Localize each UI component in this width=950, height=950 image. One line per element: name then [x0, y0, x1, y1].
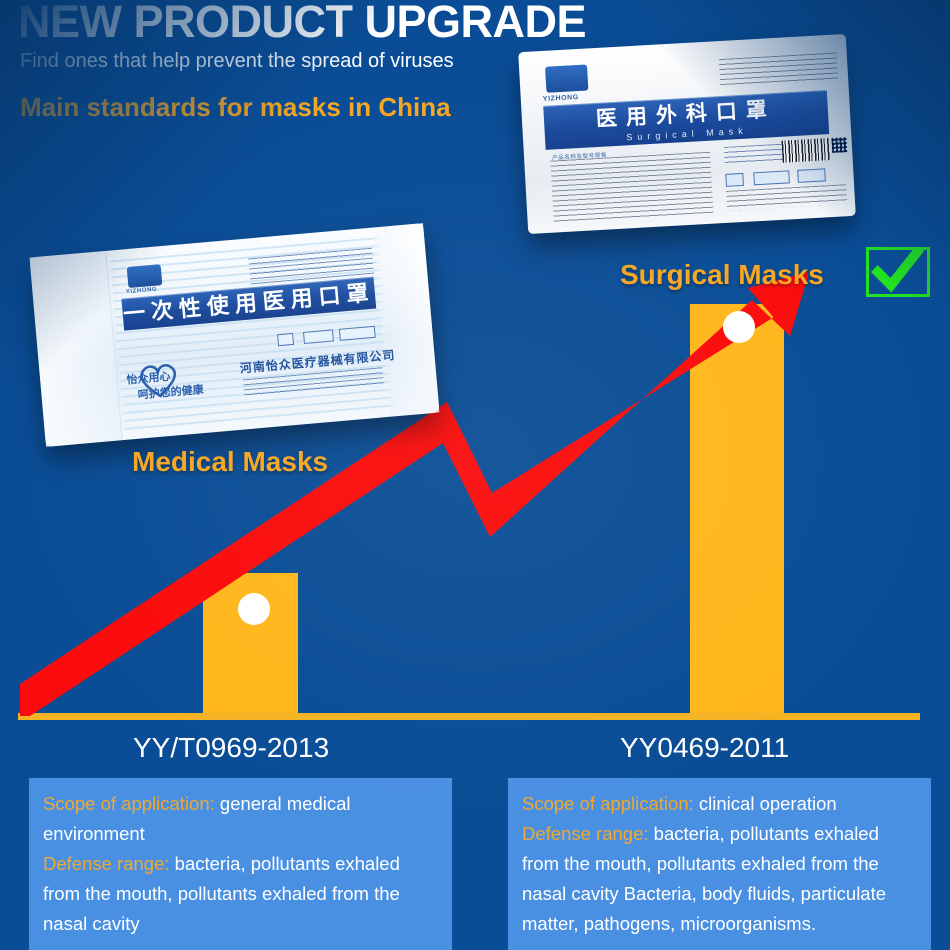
surgical-mask-package-image: YIZHONG 医用外科口罩 Surgical Mask 产品名称及型号规格 — [518, 34, 856, 234]
info-line: matter, pathogens, microorganisms. — [508, 909, 931, 939]
info-value: bacteria, pollutants exhaled — [649, 823, 879, 844]
info-line: nasal cavity — [29, 909, 452, 939]
axis-label-medical-standard: YY/T0969-2013 — [133, 732, 329, 764]
package-mini-label-1 — [753, 170, 790, 185]
brand-logo-icon — [127, 264, 163, 288]
info-box-surgical: Scope of application: clinical operation… — [508, 778, 931, 950]
info-line: Scope of application: clinical operation — [508, 778, 931, 819]
info-line: from the mouth, pollutants exhaled from … — [508, 849, 931, 879]
package-plastic-sheen-left — [29, 251, 122, 447]
package-mini-label-0 — [277, 333, 294, 346]
info-key: Scope of application: — [43, 793, 215, 814]
caption-surgical-masks: Surgical Masks — [620, 259, 824, 291]
info-line: Scope of application: general medical — [29, 778, 452, 819]
info-value: from the mouth, pollutants exhaled from … — [43, 883, 400, 904]
axis-label-surgical-standard: YY0469-2011 — [620, 732, 789, 764]
info-line: Defense range: bacteria, pollutants exha… — [508, 819, 931, 849]
info-box-medical: Scope of application: general medical en… — [29, 778, 452, 950]
info-line: from the mouth, pollutants exhaled from … — [29, 879, 452, 909]
info-value: nasal cavity — [43, 913, 140, 934]
infographic-page: NEW PRODUCT UPGRADE Find ones that help … — [0, 0, 950, 950]
info-line: environment — [29, 819, 452, 849]
package-spec-microtext — [719, 53, 838, 88]
package-barcode — [782, 138, 831, 163]
data-point-medical — [238, 593, 270, 625]
check-mark-icon — [866, 247, 930, 297]
info-value: general medical — [215, 793, 351, 814]
data-point-surgical — [723, 311, 755, 343]
package-qrcode — [831, 137, 847, 153]
info-key: Scope of application: — [522, 793, 694, 814]
package-instructions-microtext — [550, 152, 713, 223]
brand-logo-text: YIZHONG — [543, 94, 579, 103]
info-value: nasal cavity Bacteria, body fluids, part… — [522, 883, 886, 904]
info-value: matter, pathogens, microorganisms. — [522, 913, 816, 934]
info-value: bacteria, pollutants exhaled — [170, 853, 400, 874]
brand-logo-icon — [545, 64, 588, 92]
info-value: clinical operation — [694, 793, 837, 814]
info-key: Defense range: — [43, 853, 170, 874]
package-mini-label-0 — [725, 173, 744, 187]
info-line: Defense range: bacteria, pollutants exha… — [29, 849, 452, 879]
caption-medical-masks: Medical Masks — [132, 446, 328, 478]
medical-mask-package-image: YIZHONG 一次性使用医用口罩 河南怡众医疗器械有限公司 怡众用心 呵护您的… — [29, 223, 439, 447]
info-value: from the mouth, pollutants exhaled from … — [522, 853, 879, 874]
info-value: environment — [43, 823, 145, 844]
package-footer-microtext — [726, 184, 847, 211]
info-key: Defense range: — [522, 823, 649, 844]
info-line: nasal cavity Bacteria, body fluids, part… — [508, 879, 931, 909]
package-mini-label-2 — [797, 168, 826, 183]
